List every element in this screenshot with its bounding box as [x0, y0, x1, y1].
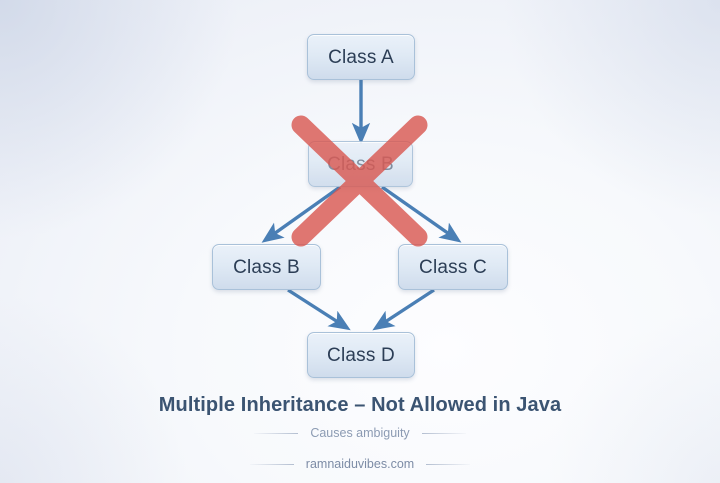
- diagram-subtitle: Causes ambiguity: [310, 422, 409, 444]
- diagram-canvas: Class A Class B Class B Class C Class D …: [0, 0, 720, 483]
- site-credit: ramnaiduvibes.com: [306, 453, 414, 475]
- rule-left: [250, 464, 294, 465]
- rule-left: [254, 433, 298, 434]
- edge-class-c-to-class-d: [382, 290, 434, 324]
- edge-class-b-mid-to-class-c: [382, 187, 452, 236]
- class-node-label: Class A: [328, 48, 394, 67]
- edge-class-b-to-class-d: [288, 290, 341, 324]
- class-node-class-d[interactable]: Class D: [307, 332, 415, 378]
- class-node-class-b-middle[interactable]: Class B: [308, 141, 413, 187]
- class-node-class-c[interactable]: Class C: [398, 244, 508, 290]
- rule-right: [422, 433, 466, 434]
- credit-row: ramnaiduvibes.com: [0, 453, 720, 475]
- class-node-class-a[interactable]: Class A: [307, 34, 415, 80]
- class-node-label: Class D: [327, 346, 395, 365]
- class-node-class-b[interactable]: Class B: [212, 244, 321, 290]
- class-node-label: Class B: [327, 155, 394, 174]
- class-node-label: Class C: [419, 258, 487, 277]
- subtitle-row: Causes ambiguity: [0, 422, 720, 444]
- rule-right: [426, 464, 470, 465]
- edge-class-b-mid-to-class-b: [271, 187, 340, 236]
- diagram-title: Multiple Inheritance – Not Allowed in Ja…: [0, 392, 720, 418]
- class-node-label: Class B: [233, 258, 300, 277]
- caption-block: Multiple Inheritance – Not Allowed in Ja…: [0, 392, 720, 475]
